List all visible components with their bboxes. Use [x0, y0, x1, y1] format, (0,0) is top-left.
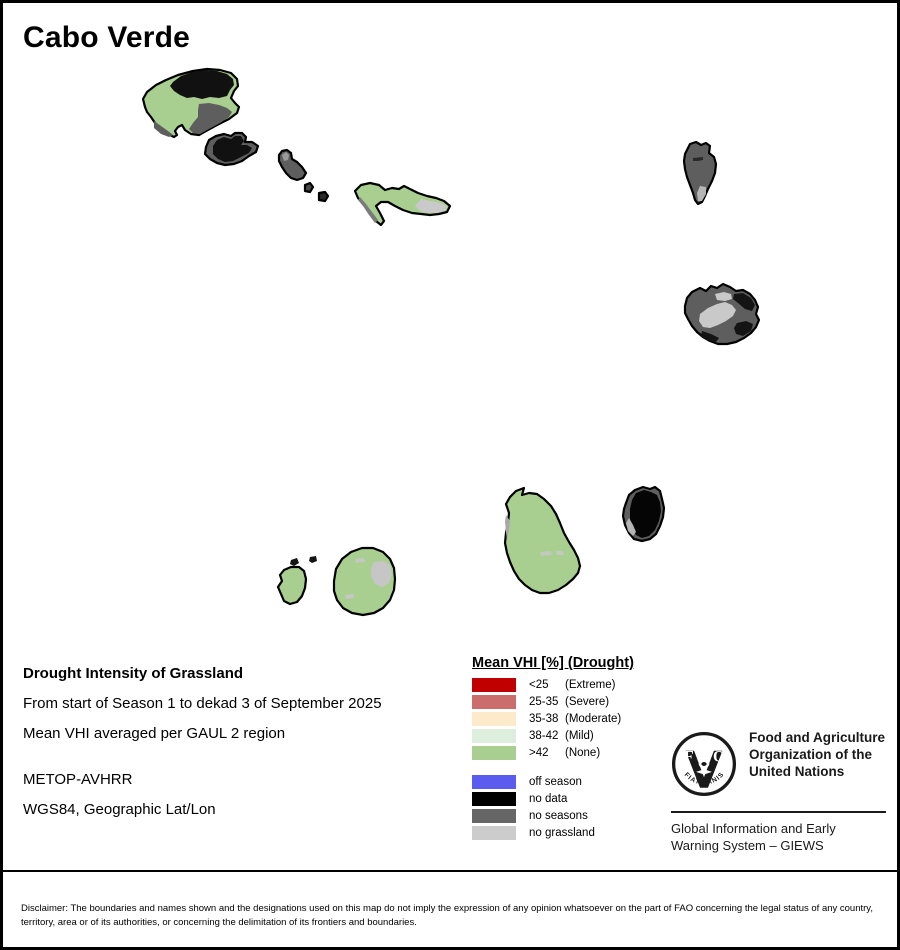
- legend-swatch-none: [472, 746, 516, 760]
- legend-swatch-extreme: [472, 678, 516, 692]
- info-aggregation: Mean VHI averaged per GAUL 2 region: [23, 719, 463, 749]
- info-spacer: [23, 749, 463, 765]
- island-rombos[interactable]: [290, 556, 317, 566]
- fao-org-line-1: Food and Agriculture: [749, 729, 885, 746]
- raso-base: [319, 192, 328, 201]
- island-boa-vista[interactable]: [685, 284, 759, 344]
- map-page: Cabo Verde: [0, 0, 900, 950]
- legend-label-no-data: no data: [529, 793, 567, 805]
- island-santa-luzia[interactable]: [279, 150, 306, 180]
- island-raso[interactable]: [319, 192, 328, 201]
- legend-swatch-no-seasons: [472, 809, 516, 823]
- legend-swatch-moderate: [472, 712, 516, 726]
- legend-range-moderate: 35-38: [529, 713, 565, 725]
- legend-swatch-mild: [472, 729, 516, 743]
- legend-row-moderate[interactable]: 35-38(Moderate): [472, 710, 672, 727]
- svg-text:A: A: [699, 743, 710, 760]
- legend-label-moderate: 35-38(Moderate): [529, 713, 621, 725]
- fao-top-row: F A O FIAT PANIS Food and Agriculture Or…: [671, 729, 886, 802]
- legend-label-no-seasons: no seasons: [529, 810, 588, 822]
- legend-label-severe: 25-35(Severe): [529, 696, 609, 708]
- legend-row-extreme[interactable]: <25(Extreme): [472, 676, 672, 693]
- island-santo-antao[interactable]: [143, 69, 239, 137]
- legend-range-extreme: <25: [529, 679, 565, 691]
- island-maio[interactable]: [623, 487, 664, 541]
- legend-range-severe: 25-35: [529, 696, 565, 708]
- giews-line-1: Global Information and Early: [671, 820, 886, 837]
- santiago-base: [505, 488, 580, 593]
- branco-base: [305, 183, 313, 192]
- info-period: From start of Season 1 to dekad 3 of Sep…: [23, 689, 463, 719]
- rombos-islet-2: [309, 556, 317, 563]
- map-legend: Mean VHI [%] (Drought) <25(Extreme) 25-3…: [472, 655, 672, 841]
- legend-range-none: >42: [529, 747, 565, 759]
- svg-text:O: O: [713, 748, 725, 765]
- legend-label-off-season: off season: [529, 776, 582, 788]
- brava-base: [278, 567, 306, 604]
- legend-swatch-off-season: [472, 775, 516, 789]
- legend-name-severe: (Severe): [565, 696, 609, 708]
- legend-title: Mean VHI [%] (Drought): [472, 655, 672, 671]
- legend-range-mild: 38-42: [529, 730, 565, 742]
- legend-label-extreme: <25(Extreme): [529, 679, 615, 691]
- legend-row-no-data[interactable]: no data: [472, 790, 672, 807]
- fao-branding-block: F A O FIAT PANIS Food and Agriculture Or…: [671, 729, 886, 854]
- legend-label-mild: 38-42(Mild): [529, 730, 594, 742]
- island-sao-vicente[interactable]: [205, 133, 258, 165]
- santiago-no-grassland-streak-2: [556, 551, 564, 555]
- giews-line-2: Warning System – GIEWS: [671, 837, 886, 854]
- legend-name-moderate: (Moderate): [565, 713, 621, 725]
- legend-row-no-seasons[interactable]: no seasons: [472, 807, 672, 824]
- legend-row-off-season[interactable]: off season: [472, 773, 672, 790]
- legend-row-none[interactable]: >42(None): [472, 744, 672, 761]
- legend-row-no-grassland[interactable]: no grassland: [472, 824, 672, 841]
- island-santiago[interactable]: [505, 488, 580, 593]
- fao-organization-name: Food and Agriculture Organization of the…: [749, 729, 885, 780]
- fao-logo: F A O FIAT PANIS: [671, 731, 737, 802]
- legend-swatch-no-data: [472, 792, 516, 806]
- island-branco[interactable]: [305, 183, 313, 192]
- legend-name-mild: (Mild): [565, 730, 594, 742]
- disclaimer-text: Disclaimer: The boundaries and names sho…: [21, 902, 883, 929]
- legend-row-severe[interactable]: 25-35(Severe): [472, 693, 672, 710]
- map-canvas: [3, 3, 900, 643]
- fao-divider: [671, 811, 886, 813]
- info-heading: Drought Intensity of Grassland: [23, 659, 463, 689]
- info-projection: WGS84, Geographic Lat/Lon: [23, 795, 463, 825]
- legend-swatch-severe: [472, 695, 516, 709]
- legend-name-extreme: (Extreme): [565, 679, 615, 691]
- legend-swatch-no-grassland: [472, 826, 516, 840]
- svg-text:F: F: [684, 748, 694, 765]
- island-sao-nicolau[interactable]: [355, 183, 450, 225]
- map-info-block: Drought Intensity of Grassland From star…: [23, 659, 463, 825]
- fao-org-line-2: Organization of the: [749, 746, 885, 763]
- legend-gap: [472, 761, 672, 773]
- island-brava[interactable]: [278, 567, 306, 604]
- rombos-islet-1: [290, 558, 299, 566]
- legend-label-no-grassland: no grassland: [529, 827, 595, 839]
- island-sal[interactable]: [684, 142, 716, 204]
- fao-org-line-3: United Nations: [749, 763, 885, 780]
- disclaimer-divider: [3, 870, 897, 872]
- legend-name-none: (None): [565, 747, 600, 759]
- legend-row-mild[interactable]: 38-42(Mild): [472, 727, 672, 744]
- info-sensor: METOP-AVHRR: [23, 765, 463, 795]
- island-fogo[interactable]: [334, 548, 395, 615]
- giews-system-name: Global Information and Early Warning Sys…: [671, 820, 886, 854]
- legend-label-none: >42(None): [529, 747, 600, 759]
